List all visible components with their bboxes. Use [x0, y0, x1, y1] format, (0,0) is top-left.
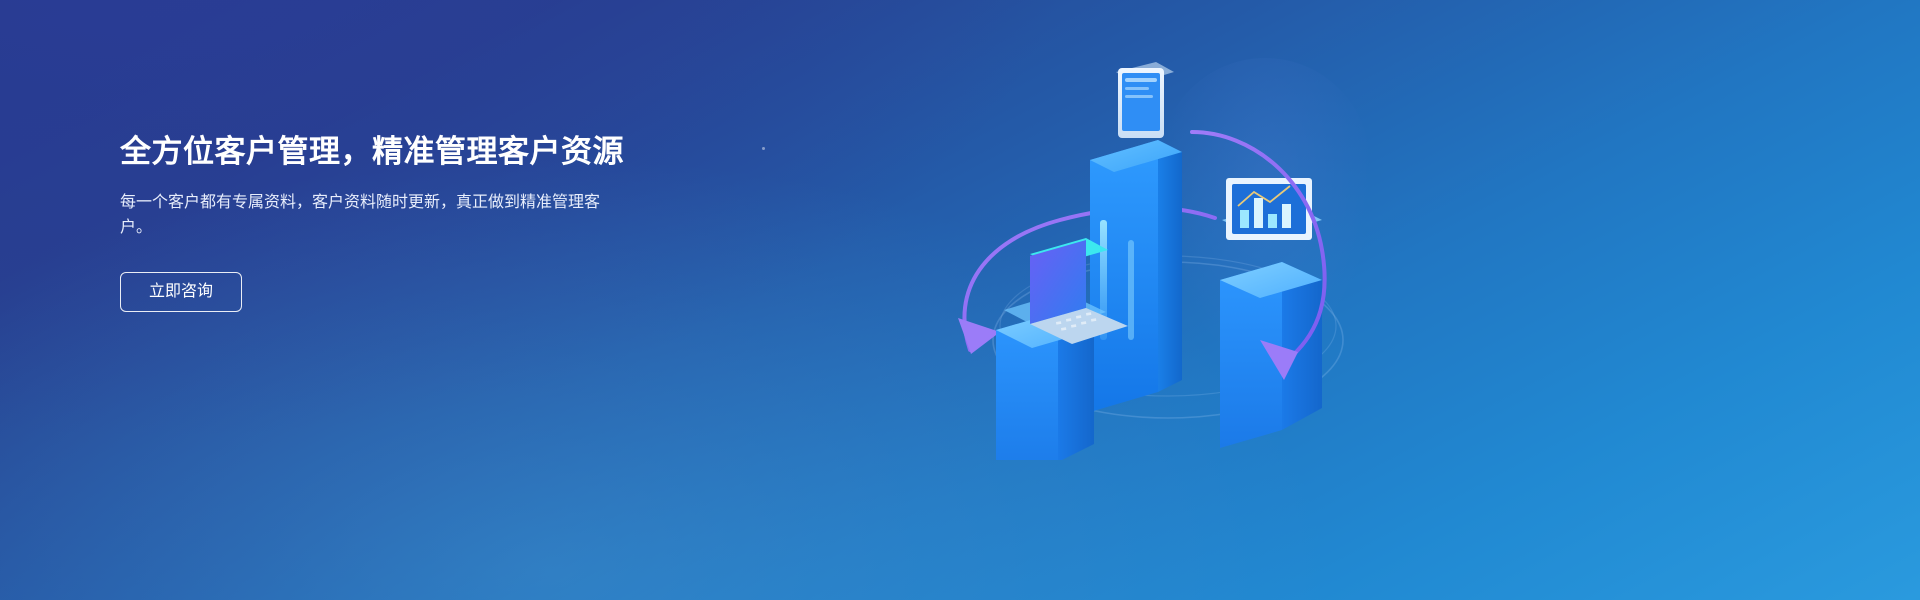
tall-tower [1090, 140, 1182, 412]
consult-now-button[interactable]: 立即咨询 [120, 272, 242, 312]
hero-banner: 全方位客户管理，精准管理客户资源 每一个客户都有专属资料，客户资料随时更新，真正… [0, 0, 1920, 600]
decorative-dot [762, 147, 765, 150]
tower-tablet [1116, 62, 1174, 138]
page-title: 全方位客户管理，精准管理客户资源 [120, 130, 740, 174]
hero-copy-block: 全方位客户管理，精准管理客户资源 每一个客户都有专属资料，客户资料随时更新，真正… [120, 130, 740, 312]
hero-illustration [930, 40, 1390, 460]
hero-subtitle: 每一个客户都有专属资料，客户资料随时更新，真正做到精准管理客户。 [120, 190, 612, 240]
